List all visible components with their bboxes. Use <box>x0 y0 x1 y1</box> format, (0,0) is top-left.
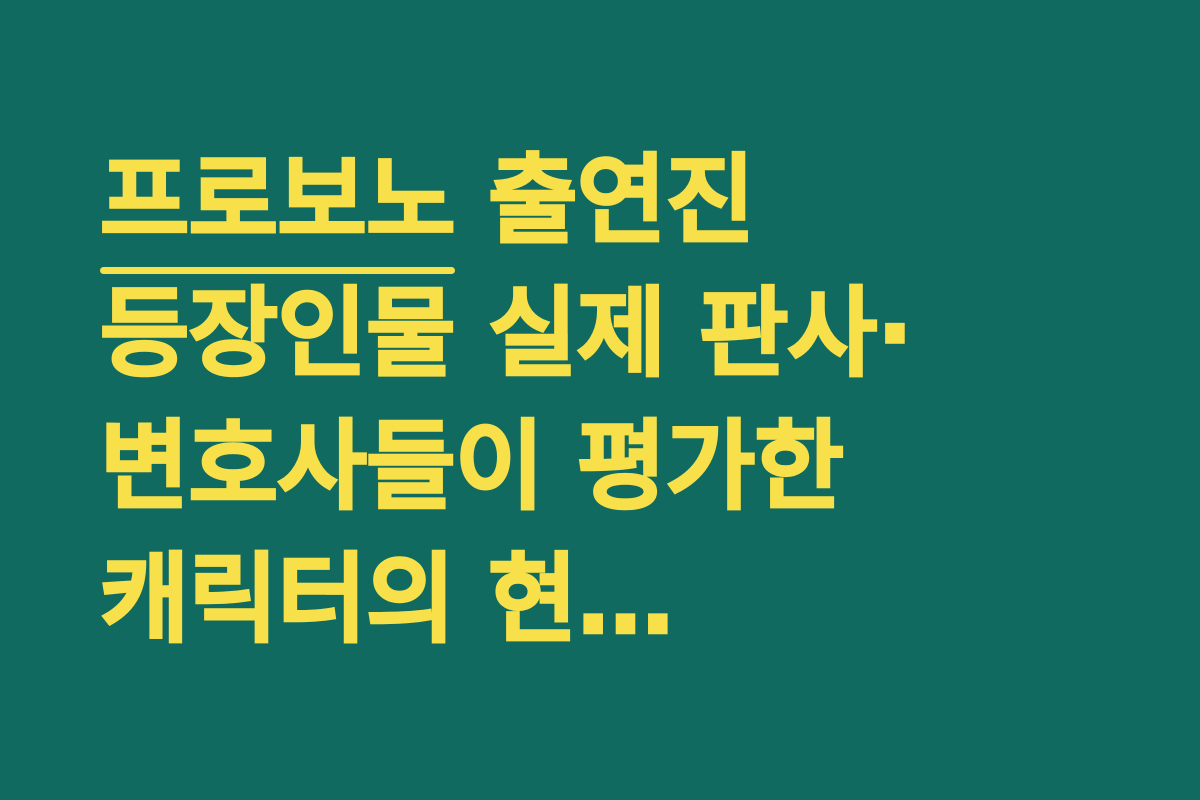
page-title: 프로보노 출연진 등장인물 실제 판사·변호사들이 평가한 캐릭터의 현… <box>100 134 1104 666</box>
emphasized-keyword: 프로보노 <box>100 144 455 257</box>
headline-card: 프로보노 출연진 등장인물 실제 판사·변호사들이 평가한 캐릭터의 현… <box>0 0 1200 800</box>
